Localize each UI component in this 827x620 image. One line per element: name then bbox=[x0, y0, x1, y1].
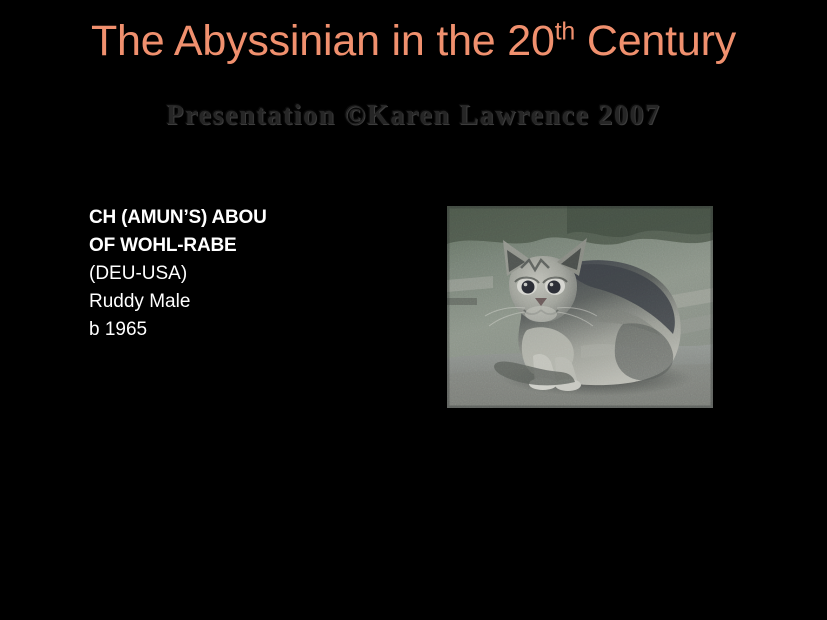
caption-line: CH (AMUN’S) ABOU bbox=[89, 204, 419, 232]
caption-line: (DEU-USA) bbox=[89, 260, 419, 288]
caption-line: b 1965 bbox=[89, 316, 419, 344]
page-title-superscript: th bbox=[555, 18, 575, 46]
cat-photo-image bbox=[447, 206, 713, 408]
caption-line: OF WOHL-RABE bbox=[89, 232, 419, 260]
cat-photo bbox=[447, 206, 713, 408]
caption-line: Ruddy Male bbox=[89, 288, 419, 316]
page-title-main: The Abyssinian in the 20 bbox=[91, 17, 555, 65]
copyright-watermark: Presentation ©Karen Lawrence 2007 bbox=[0, 100, 827, 132]
page-title: The Abyssinian in the 20th Century bbox=[0, 18, 827, 64]
page-title-tail: Century bbox=[575, 17, 736, 65]
cat-caption-block: CH (AMUN’S) ABOU OF WOHL-RABE (DEU-USA) … bbox=[89, 204, 419, 344]
presentation-slide: The Abyssinian in the 20th Century Prese… bbox=[0, 0, 827, 620]
